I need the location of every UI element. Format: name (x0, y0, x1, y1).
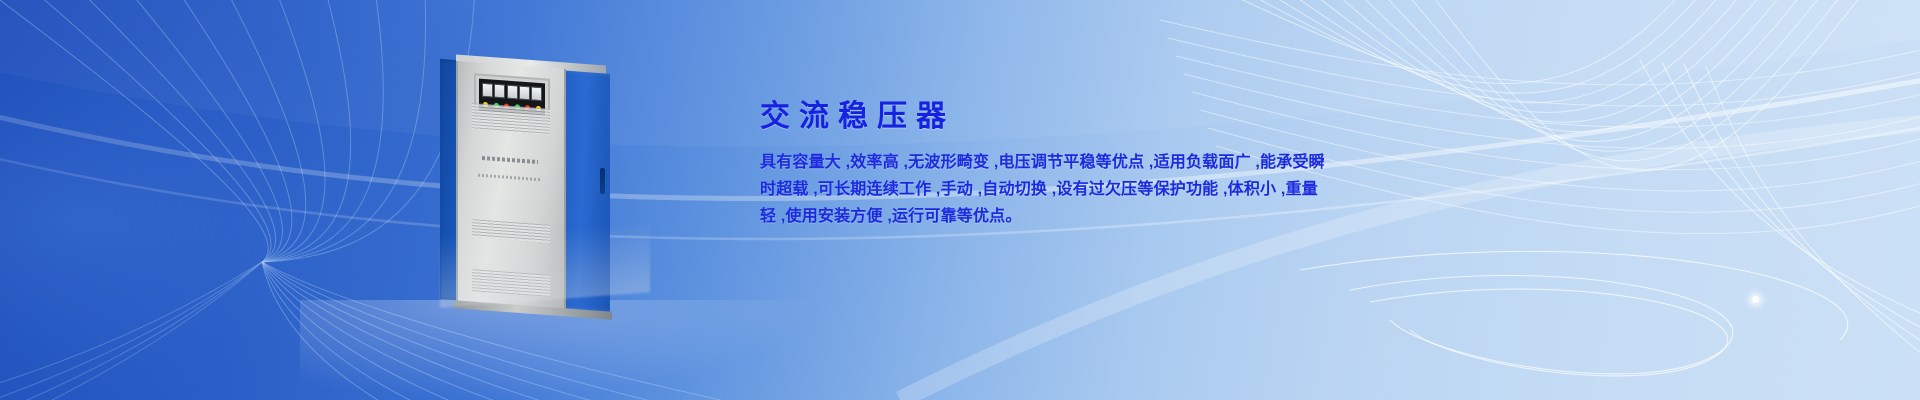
product-floor-reflection (440, 208, 650, 307)
description-line-2: 时超载 ,可长期连续工作 ,手动 ,自动切换 ,设有过欠压等保护功能 ,体积小 … (760, 176, 1320, 203)
meter-row (482, 83, 542, 101)
cabinet-door-handle (600, 168, 605, 194)
sparkle-dot-icon (1752, 296, 1759, 303)
banner-description: 具有容量大 ,效率高 ,无波形畸变 ,电压调节平稳等优点 ,适用负载面广 ,能承… (760, 149, 1320, 230)
banner-headline: 交流稳压器 (760, 100, 1320, 133)
description-line-3: 轻 ,使用安装方便 ,运行可靠等优点。 (760, 203, 1320, 230)
banner-copy: 交流稳压器 具有容量大 ,效率高 ,无波形畸变 ,电压调节平稳等优点 ,适用负载… (760, 100, 1320, 230)
product-banner: 交流稳压器 具有容量大 ,效率高 ,无波形畸变 ,电压调节平稳等优点 ,适用负载… (0, 0, 1920, 400)
meter-2 (494, 84, 505, 99)
meter-5 (531, 87, 542, 102)
meter-3 (507, 85, 518, 100)
meter-1 (482, 83, 493, 98)
meter-4 (519, 86, 530, 101)
description-line-1: 具有容量大 ,效率高 ,无波形畸变 ,电压调节平稳等优点 ,适用负载面广 ,能承… (760, 149, 1320, 176)
